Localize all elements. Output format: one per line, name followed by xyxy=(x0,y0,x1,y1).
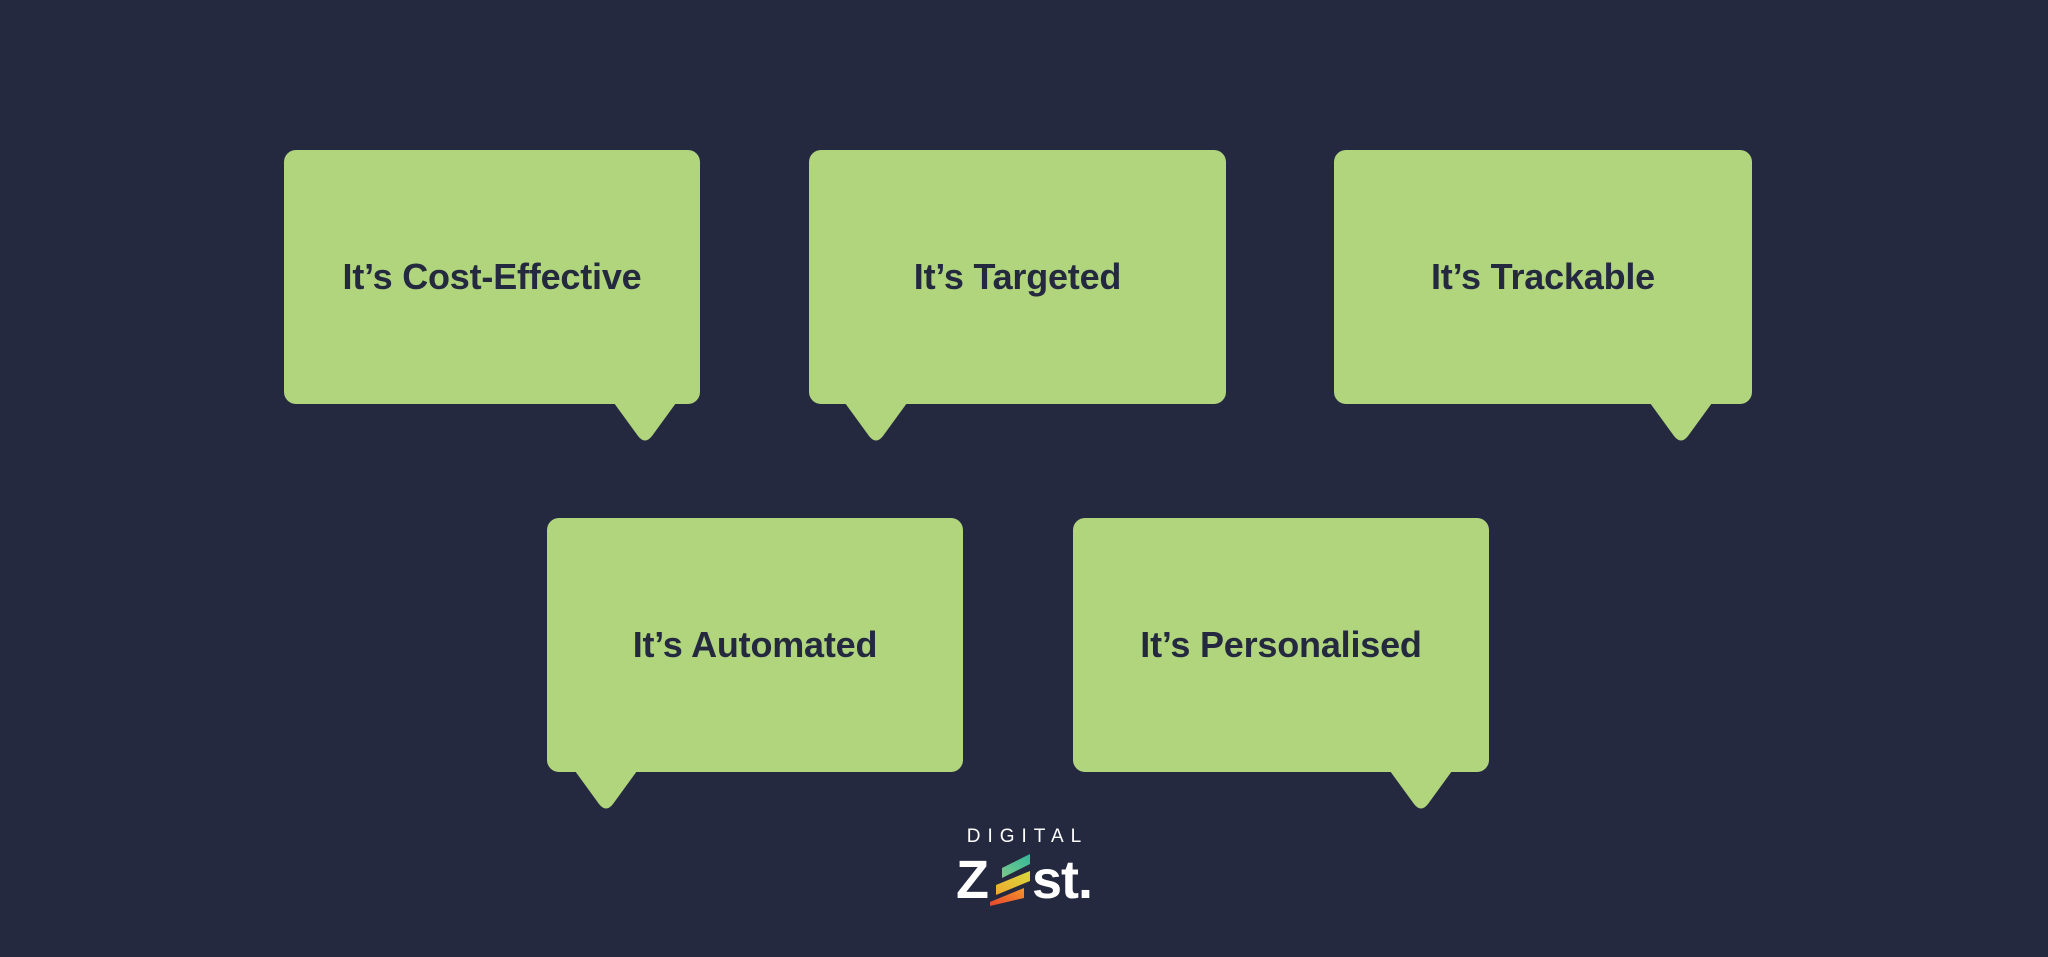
speech-bubble-personalised[interactable]: It’s Personalised xyxy=(1073,518,1489,772)
speech-bubble-tail xyxy=(614,403,676,445)
logo-letters-st: st. xyxy=(1032,853,1092,907)
speech-bubble-tail xyxy=(575,771,637,813)
speech-bubble-cost-effective[interactable]: It’s Cost-Effective xyxy=(284,150,700,404)
logo-wordmark-digital: DIGITAL xyxy=(960,827,1089,846)
speech-bubble-label: It’s Automated xyxy=(633,625,878,665)
speech-bubble-tail xyxy=(1390,771,1452,813)
logo-wordmark-zest: Z xyxy=(956,853,1092,907)
speech-bubble-targeted[interactable]: It’s Targeted xyxy=(809,150,1226,404)
brand-logo: DIGITAL Z xyxy=(0,827,2048,907)
speech-bubble-label: It’s Targeted xyxy=(914,257,1121,297)
slide-canvas: It’s Cost-EffectiveIt’s TargetedIt’s Tra… xyxy=(0,0,2048,957)
speech-bubble-automated[interactable]: It’s Automated xyxy=(547,518,963,772)
speech-bubble-label: It’s Trackable xyxy=(1431,257,1655,297)
speech-bubble-label: It’s Cost-Effective xyxy=(343,257,642,297)
zest-gradient-bars-icon xyxy=(990,854,1030,906)
speech-bubble-trackable[interactable]: It’s Trackable xyxy=(1334,150,1752,404)
speech-bubble-tail xyxy=(1650,403,1712,445)
speech-bubble-tail xyxy=(845,403,907,445)
speech-bubble-label: It’s Personalised xyxy=(1140,625,1421,665)
logo-letter-z: Z xyxy=(956,853,988,907)
